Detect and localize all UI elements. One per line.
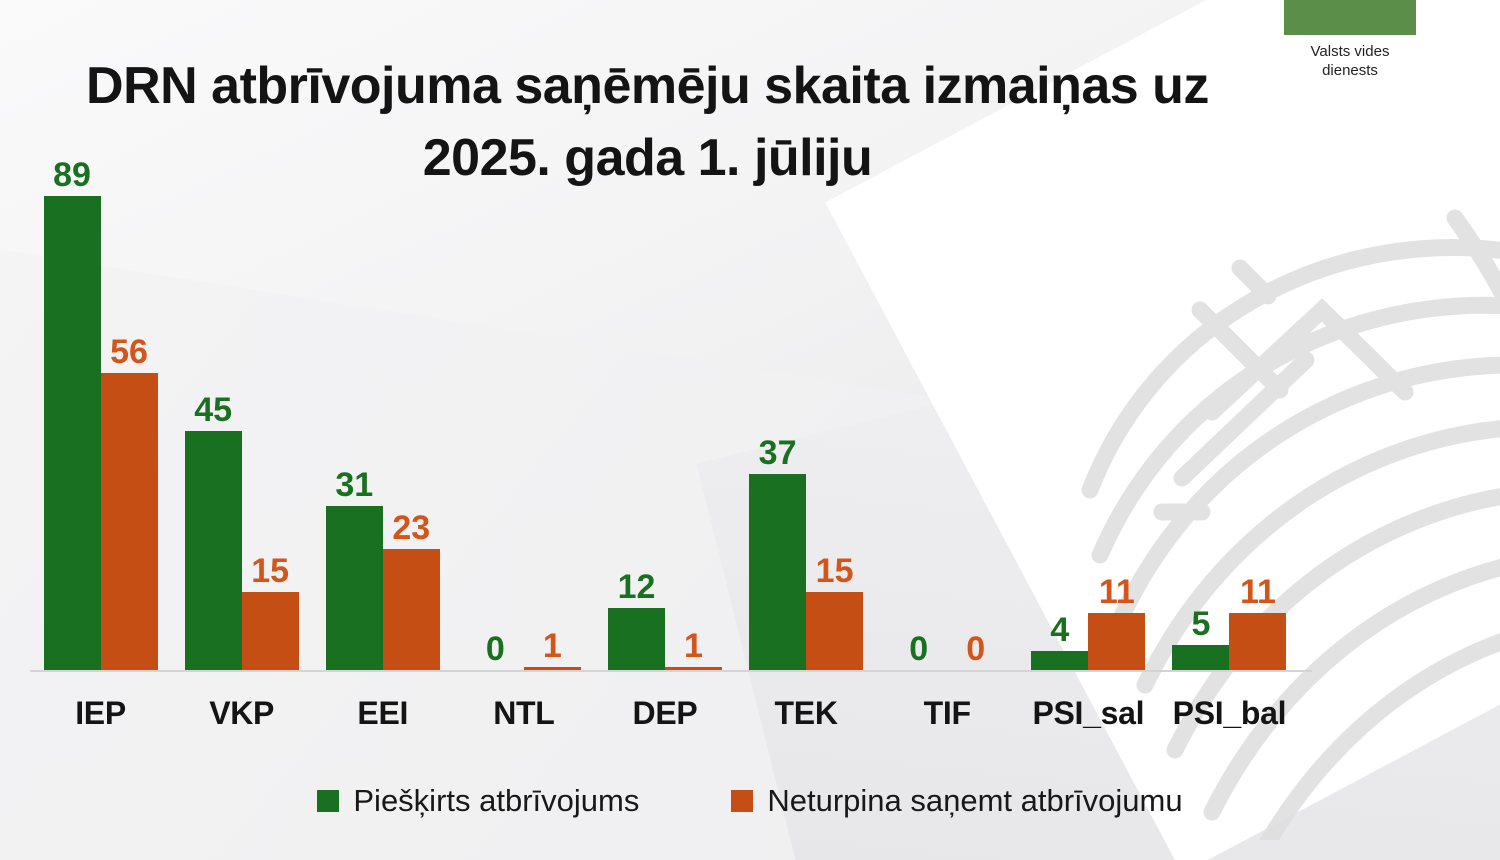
- bar-group: 121: [594, 180, 735, 672]
- bar-chart-plot-area: 89564515312301121371500411511: [30, 180, 1300, 672]
- bar-value-label: 31: [335, 468, 373, 502]
- bar-slot: 12: [608, 180, 665, 672]
- bar-group: 8956: [30, 180, 171, 672]
- bar-slot: 0: [890, 180, 947, 672]
- bar-value-label: 5: [1191, 607, 1210, 641]
- bar[interactable]: 12: [608, 608, 665, 672]
- bar-value-label: 11: [1099, 575, 1135, 609]
- legend-swatch-icon: [731, 790, 753, 812]
- bar-value-label: 15: [816, 554, 854, 588]
- bar[interactable]: 31: [326, 506, 383, 672]
- x-axis-label: NTL: [453, 695, 594, 732]
- chart-legend: Piešķirts atbrīvojumsNeturpina saņemt at…: [0, 785, 1500, 816]
- bar-group: 411: [1018, 180, 1159, 672]
- bar-slot: 0: [947, 180, 1004, 672]
- x-axis-label: PSI_bal: [1159, 695, 1300, 732]
- bar-value-label: 11: [1240, 575, 1276, 609]
- bar-slot: 0: [467, 180, 524, 672]
- organization-name: Valsts vides dienests: [1284, 42, 1416, 80]
- bar-slot: 1: [524, 180, 581, 672]
- bar-slot: 4: [1031, 180, 1088, 672]
- bar-slot: 15: [806, 180, 863, 672]
- bar-group: 3715: [736, 180, 877, 672]
- bar-slot: 11: [1229, 180, 1286, 672]
- bar-slot: 23: [383, 180, 440, 672]
- bar-value-label: 45: [194, 393, 232, 427]
- bar-slot: 11: [1088, 180, 1145, 672]
- x-axis-label: TEK: [736, 695, 877, 732]
- bar-value-label: 0: [909, 632, 928, 666]
- bar[interactable]: 15: [806, 592, 863, 672]
- x-axis-label: TIF: [877, 695, 1018, 732]
- bar[interactable]: 4: [1031, 651, 1088, 672]
- bar[interactable]: 11: [1229, 613, 1286, 672]
- bar-slot: 15: [242, 180, 299, 672]
- legend-item[interactable]: Piešķirts atbrīvojums: [317, 785, 639, 816]
- bar[interactable]: 15: [242, 592, 299, 672]
- bar[interactable]: 37: [749, 474, 806, 672]
- bar[interactable]: 89: [44, 196, 101, 672]
- x-axis-label: IEP: [30, 695, 171, 732]
- bar-value-label: 0: [966, 632, 985, 666]
- legend-label: Neturpina saņemt atbrīvojumu: [767, 785, 1182, 816]
- bar-value-label: 15: [251, 554, 289, 588]
- bar-value-label: 37: [759, 436, 797, 470]
- bar-slot: 5: [1172, 180, 1229, 672]
- bar-slot: 89: [44, 180, 101, 672]
- organization-logo: Valsts vides dienests: [1284, 0, 1416, 80]
- bar[interactable]: 45: [185, 431, 242, 672]
- bar-value-label: 1: [684, 629, 703, 663]
- bar-value-label: 12: [618, 570, 656, 604]
- x-axis-label: VKP: [171, 695, 312, 732]
- legend-item[interactable]: Neturpina saņemt atbrīvojumu: [731, 785, 1182, 816]
- bar-value-label: 56: [110, 335, 148, 369]
- x-axis-label: EEI: [312, 695, 453, 732]
- bar[interactable]: 23: [383, 549, 440, 672]
- bar-value-label: 4: [1050, 613, 1069, 647]
- bar-slot: 56: [101, 180, 158, 672]
- bar[interactable]: 5: [1172, 645, 1229, 672]
- bar[interactable]: 11: [1088, 613, 1145, 672]
- bar-value-label: 23: [392, 511, 430, 545]
- x-axis-line: [30, 670, 1312, 672]
- bar-group: 00: [877, 180, 1018, 672]
- bar-group: 511: [1159, 180, 1300, 672]
- bar-slot: 31: [326, 180, 383, 672]
- legend-label: Piešķirts atbrīvojums: [353, 785, 639, 816]
- bar-group: 01: [453, 180, 594, 672]
- bar[interactable]: 56: [101, 373, 158, 672]
- bar-slot: 1: [665, 180, 722, 672]
- bar-slot: 37: [749, 180, 806, 672]
- bar-group: 3123: [312, 180, 453, 672]
- infographic-canvas: Valsts vides dienests DRN atbrīvojuma sa…: [0, 0, 1500, 860]
- x-axis-labels: IEPVKPEEINTLDEPTEKTIFPSI_salPSI_bal: [30, 695, 1300, 732]
- x-axis-label: DEP: [594, 695, 735, 732]
- bar-value-label: 1: [543, 629, 562, 663]
- chart-title: DRN atbrīvojuma saņēmēju skaita izmaiņas…: [40, 50, 1255, 194]
- x-axis-label: PSI_sal: [1018, 695, 1159, 732]
- bar-groups: 89564515312301121371500411511: [30, 180, 1300, 672]
- bar-value-label: 0: [486, 632, 505, 666]
- bar-group: 4515: [171, 180, 312, 672]
- bar-slot: 45: [185, 180, 242, 672]
- vvd-logo-mark: [1284, 0, 1416, 35]
- legend-swatch-icon: [317, 790, 339, 812]
